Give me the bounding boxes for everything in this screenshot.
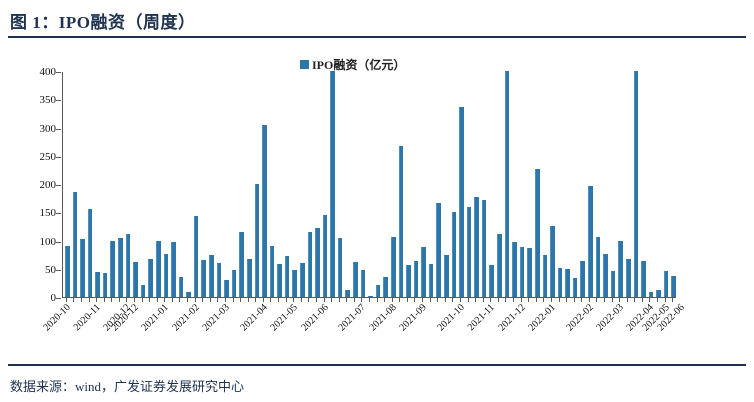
bar: [148, 259, 153, 297]
bar: [277, 264, 282, 297]
bar: [482, 200, 487, 297]
source-note: 数据来源：wind，广发证券发展研究中心: [10, 376, 244, 395]
bar: [391, 237, 396, 297]
bar: [565, 269, 570, 297]
bar: [224, 280, 229, 297]
bar: [179, 277, 184, 297]
bar: [664, 271, 669, 297]
plot-area: [62, 72, 676, 298]
bar: [110, 241, 115, 298]
bar: [126, 234, 131, 297]
x-axis-tick-label: 2021-11: [466, 302, 497, 333]
bar: [186, 292, 191, 297]
y-axis-tick-mark: [56, 242, 61, 243]
bar: [603, 254, 608, 297]
y-axis-tick-mark: [56, 213, 61, 214]
bar: [88, 209, 93, 297]
bar: [467, 207, 472, 297]
bar: [73, 192, 78, 297]
y-axis-tick-label: 100: [10, 236, 56, 248]
bar: [497, 234, 502, 297]
bar: [353, 262, 358, 297]
y-axis-tick-mark: [56, 72, 61, 73]
bar: [383, 277, 388, 297]
page-title: 图 1：IPO融资（周度）: [10, 8, 195, 33]
bar: [194, 216, 199, 297]
legend-label: IPO融资（亿元）: [312, 56, 405, 73]
y-axis-tick-mark: [56, 157, 61, 158]
bar: [368, 296, 373, 297]
y-axis-tick-label: 400: [10, 66, 56, 78]
bar: [671, 276, 676, 297]
bar: [255, 184, 260, 297]
bar: [596, 237, 601, 297]
bar: [232, 270, 237, 297]
bar: [315, 228, 320, 298]
x-axis-tick-label: 2022-01: [526, 302, 557, 333]
bar: [573, 278, 578, 297]
y-axis-tick-label: 200: [10, 179, 56, 191]
footer-divider: [8, 364, 746, 366]
y-axis-tick-mark: [56, 129, 61, 130]
bar: [345, 290, 350, 297]
x-axis-tick-label: 2021-01: [140, 302, 171, 333]
bar: [649, 292, 654, 297]
bar: [527, 248, 532, 297]
y-axis-tick-label: 50: [10, 264, 56, 276]
y-axis-tick-mark: [56, 270, 61, 271]
x-axis-tick-label: 2021-09: [397, 302, 428, 333]
bar: [141, 285, 146, 297]
x-axis-tick-label: 2021-08: [367, 302, 398, 333]
bar: [421, 247, 426, 297]
bar: [292, 270, 297, 297]
bar: [406, 265, 411, 297]
bar: [588, 186, 593, 297]
bar: [239, 232, 244, 297]
legend-swatch-icon: [300, 60, 309, 69]
y-axis-tick-mark: [56, 100, 61, 101]
bar-series: [63, 72, 676, 297]
x-axis-tick-label: 2021-10: [435, 302, 466, 333]
bar: [399, 146, 404, 297]
x-axis-tick-label: 2021-06: [299, 302, 330, 333]
bar: [550, 226, 555, 297]
x-axis-tick-label: 2022-02: [564, 302, 595, 333]
bar: [338, 238, 343, 297]
bar: [330, 71, 335, 297]
bar: [95, 272, 100, 297]
bar: [285, 256, 290, 297]
y-axis-tick-label: 150: [10, 207, 56, 219]
bar: [626, 259, 631, 297]
x-axis-tick-label: 2021-03: [200, 302, 231, 333]
bar: [580, 261, 585, 297]
bar: [300, 263, 305, 297]
bar: [618, 241, 623, 298]
bar: [444, 255, 449, 297]
bar: [103, 273, 108, 297]
y-axis-tick-mark: [56, 185, 61, 186]
bar: [164, 254, 169, 298]
title-divider: [8, 36, 746, 38]
bar: [308, 232, 313, 297]
y-axis-tick-mark: [56, 298, 61, 299]
x-axis-tick-label: 2021-02: [170, 302, 201, 333]
bar: [474, 197, 479, 297]
y-axis-tick-label: 350: [10, 94, 56, 106]
bar: [543, 255, 548, 297]
bar: [209, 255, 214, 297]
x-axis-tick-label: 2021-04: [238, 302, 269, 333]
bar: [535, 169, 540, 297]
bar: [459, 107, 464, 297]
bar: [323, 215, 328, 297]
x-axis-tick-label: 2021-12: [496, 302, 527, 333]
bar: [429, 264, 434, 297]
bar: [65, 246, 70, 297]
y-axis-tick-label: 0: [10, 292, 56, 304]
bar: [247, 259, 252, 297]
bar: [201, 260, 206, 297]
x-axis-tick-label: 2020-10: [41, 302, 72, 333]
chart-container: IPO融资（亿元） 050100150200250300350400 2020-…: [0, 44, 754, 354]
y-axis: 050100150200250300350400: [8, 72, 56, 298]
bar: [634, 71, 639, 297]
bar: [656, 290, 661, 297]
x-axis-tick-label: 2022-03: [595, 302, 626, 333]
bar: [414, 261, 419, 297]
y-axis-tick-label: 300: [10, 123, 56, 135]
bar: [262, 125, 267, 297]
bar: [217, 263, 222, 297]
x-axis-tick-label: 2021-07: [337, 302, 368, 333]
bar: [171, 242, 176, 297]
bar: [520, 247, 525, 297]
bar: [156, 241, 161, 298]
bar: [270, 246, 275, 297]
x-axis: 2020-102020-112020-122020-122021-012021-…: [62, 302, 676, 352]
bar: [376, 285, 381, 297]
bar: [641, 261, 646, 297]
chart-legend: IPO融资（亿元）: [300, 56, 405, 73]
bar: [436, 203, 441, 297]
y-axis-tick-label: 250: [10, 151, 56, 163]
bar: [512, 242, 517, 297]
bar: [133, 262, 138, 297]
bar: [558, 268, 563, 297]
bar: [489, 265, 494, 297]
bar: [80, 239, 85, 297]
bar: [361, 270, 366, 297]
bar: [452, 212, 457, 297]
bar: [118, 238, 123, 297]
bar: [611, 271, 616, 297]
x-axis-tick-label: 2021-05: [269, 302, 300, 333]
bar: [505, 71, 510, 297]
x-axis-tick-label: 2020-11: [72, 302, 103, 333]
